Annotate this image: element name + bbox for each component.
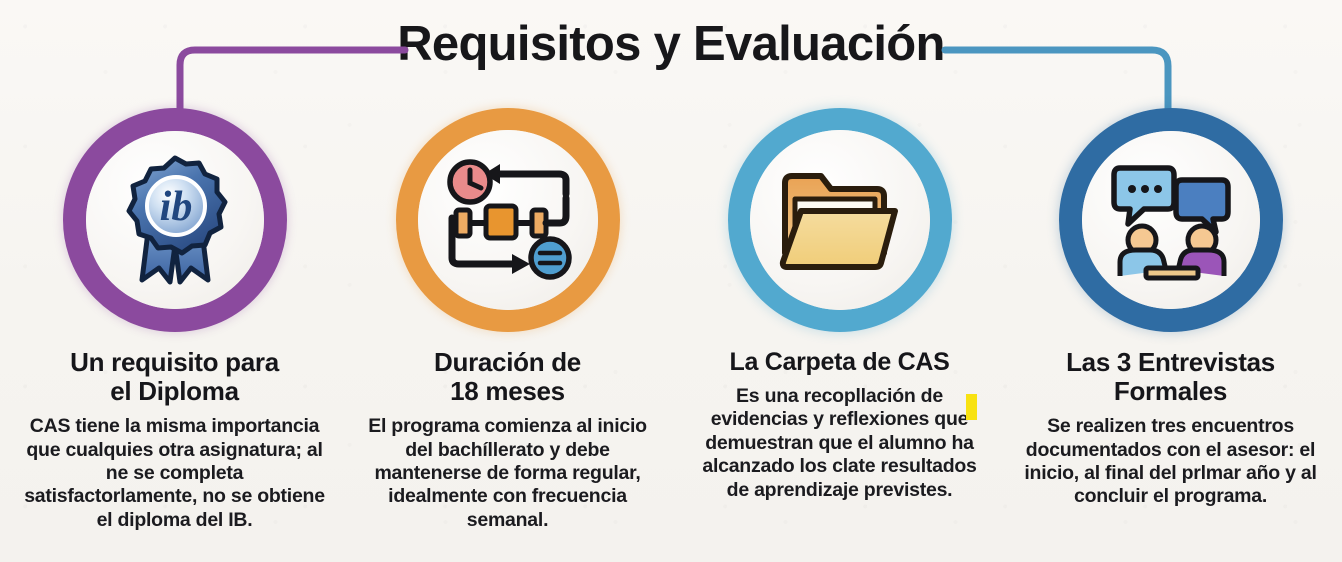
column-diploma-requirement: ib Un requisito para el Diploma CAS tien… [7, 108, 342, 532]
column-heading: Duración de 18 meses [340, 348, 675, 406]
columns-container: ib Un requisito para el Diploma CAS tien… [0, 0, 1342, 562]
icon-circle-folder [728, 108, 952, 332]
icon-circle-diploma: ib [63, 108, 287, 332]
ib-award-ribbon-icon: ib [63, 108, 287, 332]
icon-circle-duration [396, 108, 620, 332]
column-body: Se realizen tres encuentros documentados… [1003, 415, 1338, 509]
svg-text:ib: ib [159, 184, 192, 230]
column-heading: La Carpeta de CAS [672, 348, 1007, 376]
column-duration: Duración de 18 meses El programa comienz… [340, 108, 675, 532]
column-body: CAS tiene la misma importancia que cualq… [7, 415, 342, 532]
column-heading: Un requisito para el Diploma [7, 348, 342, 406]
column-body: Es una recopllación de evidencias y refl… [672, 385, 1007, 502]
icon-circle-interview [1059, 108, 1283, 332]
interview-conversation-icon [1059, 108, 1283, 332]
column-cas-folder: La Carpeta de CAS Es una recopllación de… [672, 108, 1007, 502]
yellow-highlight-mark [966, 394, 977, 420]
column-interviews: Las 3 Entrevistas Formales Se realizen t… [1003, 108, 1338, 509]
timeline-duration-icon [396, 108, 620, 332]
folder-icon [728, 108, 952, 332]
column-heading: Las 3 Entrevistas Formales [1003, 348, 1338, 406]
column-body: El programa comienza al inicio del bachí… [340, 415, 675, 532]
